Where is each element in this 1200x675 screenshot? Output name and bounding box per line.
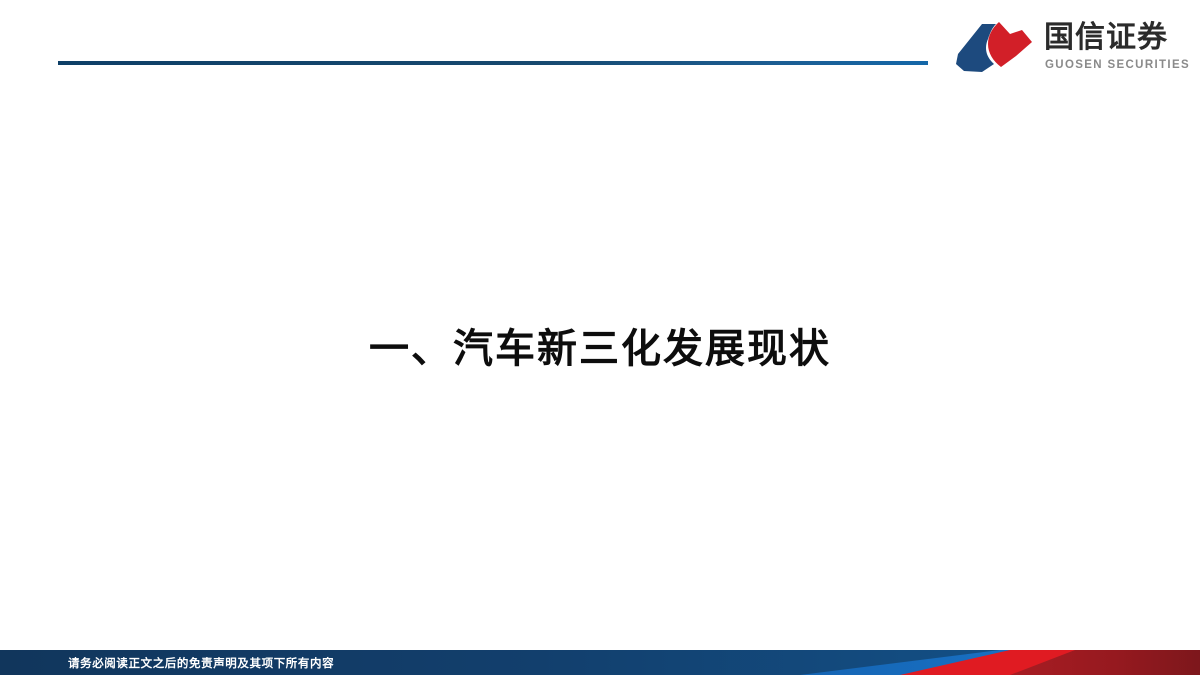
footer-band: 请务必阅读正文之后的免责声明及其项下所有内容 — [0, 650, 1200, 675]
section-title: 一、汽车新三化发展现状 — [0, 323, 1200, 375]
brand-name-cn: 国信证券 — [1044, 21, 1168, 55]
brand-logo: 国信证券 GUOSEN SECURITIES — [952, 14, 1184, 74]
footer-disclaimer-text: 请务必阅读正文之后的免责声明及其项下所有内容 — [68, 655, 334, 671]
slide-root: 国信证券 GUOSEN SECURITIES 一、汽车新三化发展现状 — [0, 0, 1200, 675]
header-divider-rule — [58, 61, 928, 65]
guosen-logo-mark-icon — [952, 20, 1036, 74]
brand-name-en: GUOSEN SECURITIES — [1045, 59, 1190, 71]
